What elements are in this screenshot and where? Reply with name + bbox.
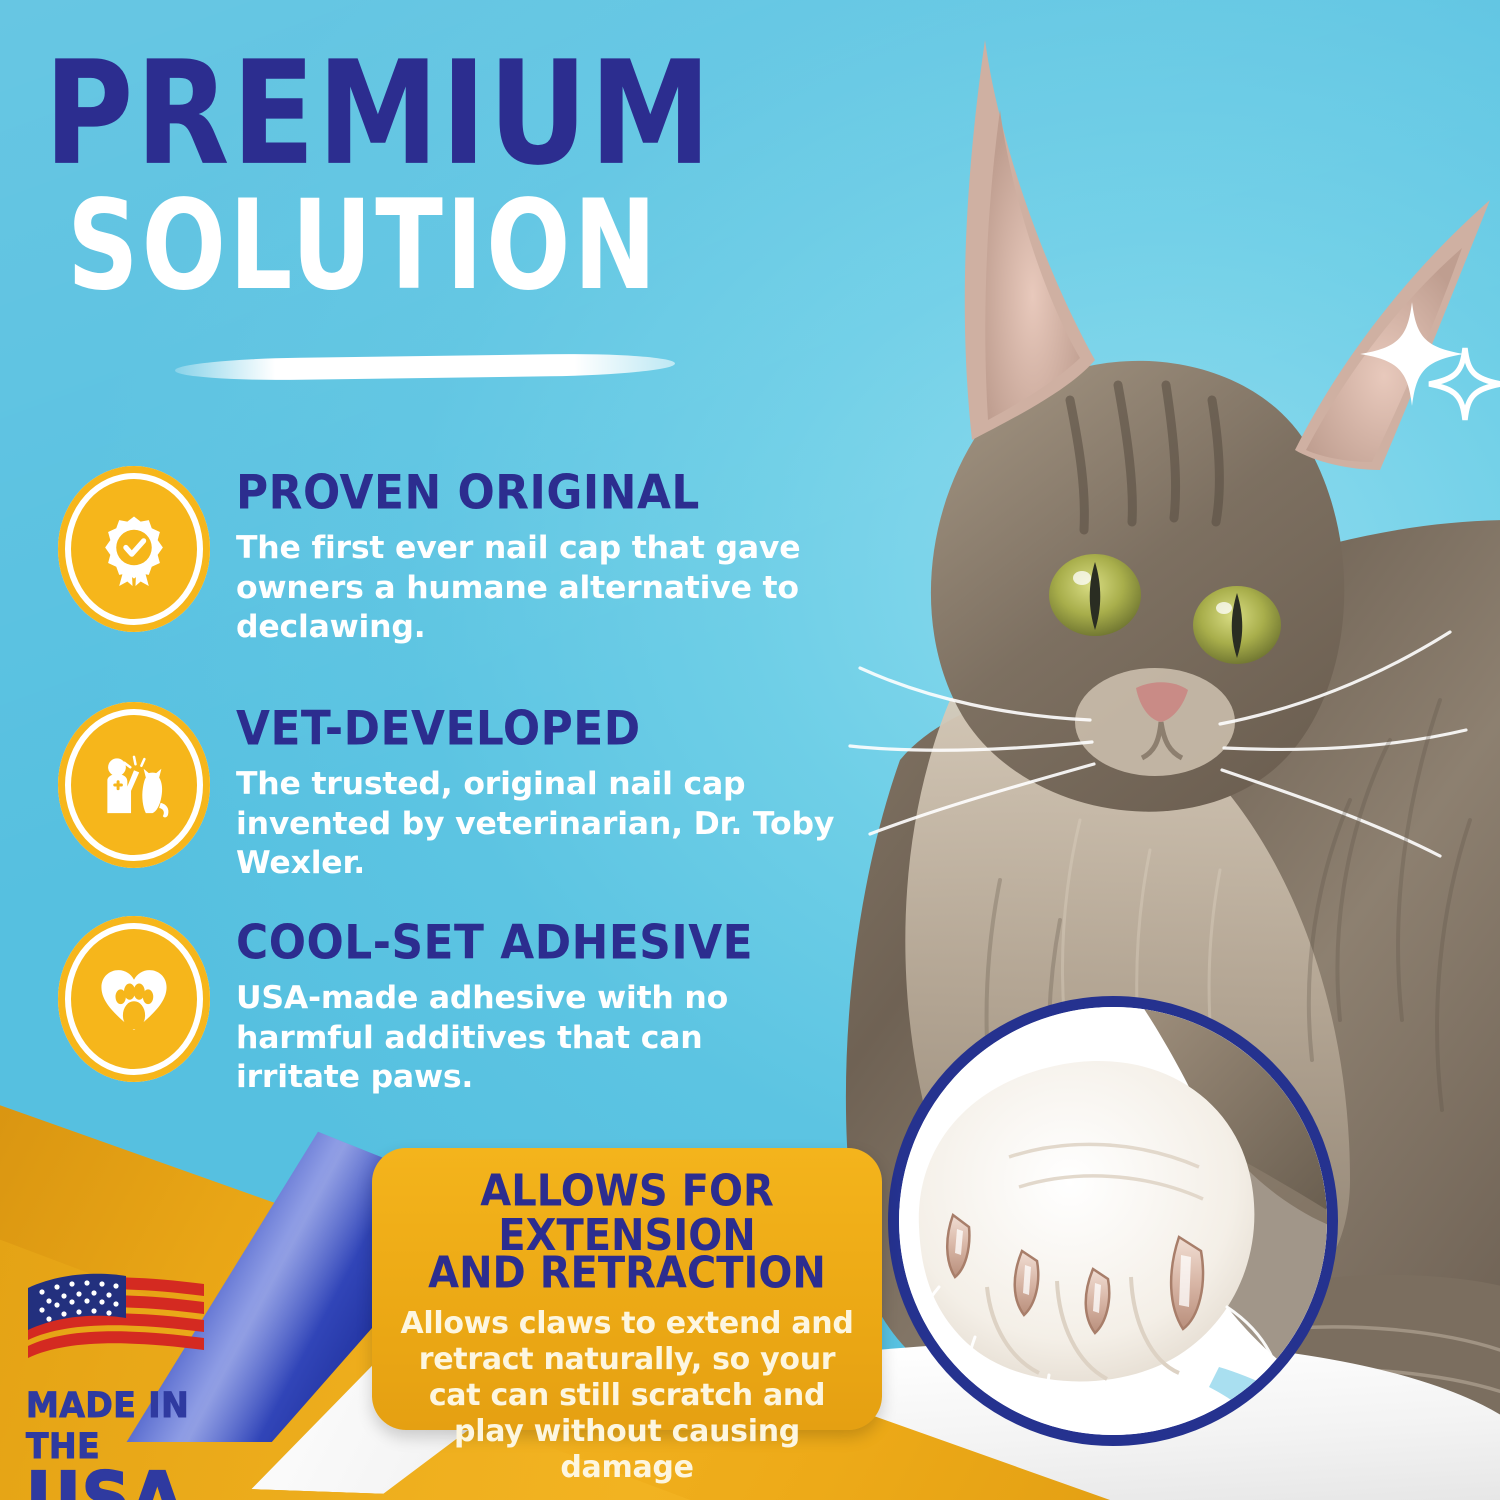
- headline-line-2: SOLUTION: [44, 191, 894, 300]
- feature-title-2: VET-DEVELOPED: [236, 706, 848, 753]
- feature-row-vet-developed: VET-DEVELOPED The trusted, original nail…: [58, 702, 868, 884]
- feature-row-cool-set-adhesive: COOL-SET ADHESIVE USA-made adhesive with…: [58, 916, 868, 1098]
- sparkle-star-outline-icon: [1426, 345, 1500, 423]
- feature-body-2: The trusted, original nail cap invented …: [236, 765, 836, 884]
- product-feature-poster: PREMIUM SOLUTION PROVEN ORIGINAL The fir…: [0, 0, 1500, 1500]
- made-in-usa-line-1: MADE IN THE: [26, 1384, 256, 1467]
- made-in-usa-line-2: USA: [26, 1466, 261, 1500]
- feature-text-1: PROVEN ORIGINAL The first ever nail cap …: [236, 466, 836, 648]
- made-in-usa-badge: MADE IN THE USA: [26, 1262, 256, 1500]
- award-ribbon-icon: [58, 466, 210, 632]
- feature-text-3: COOL-SET ADHESIVE USA-made adhesive with…: [236, 916, 836, 1098]
- heart-paw-icon: [58, 916, 210, 1082]
- vet-with-cat-icon: [58, 702, 210, 868]
- callout-title-line-1: ALLOWS FOR EXTENSION: [398, 1170, 856, 1258]
- feature-title-3: COOL-SET ADHESIVE: [236, 920, 848, 967]
- headline-block: PREMIUM SOLUTION: [44, 52, 854, 283]
- feature-body-3: USA-made adhesive with no harmful additi…: [236, 979, 836, 1098]
- feature-title-1: PROVEN ORIGINAL: [236, 470, 848, 517]
- callout-title-line-2: AND RETRACTION: [398, 1252, 856, 1296]
- headline-line-1: PREMIUM: [44, 52, 903, 178]
- feature-row-proven-original: PROVEN ORIGINAL The first ever nail cap …: [58, 466, 868, 648]
- usa-flag-icon: [26, 1262, 206, 1366]
- feature-text-2: VET-DEVELOPED The trusted, original nail…: [236, 702, 836, 884]
- feature-body-1: The first ever nail cap that gave owners…: [236, 529, 836, 648]
- callout-extension-retraction: ALLOWS FOR EXTENSION AND RETRACTION Allo…: [372, 1148, 882, 1430]
- paw-closeup-inset: [888, 996, 1338, 1446]
- callout-body: Allows claws to extend and retract natur…: [398, 1306, 856, 1486]
